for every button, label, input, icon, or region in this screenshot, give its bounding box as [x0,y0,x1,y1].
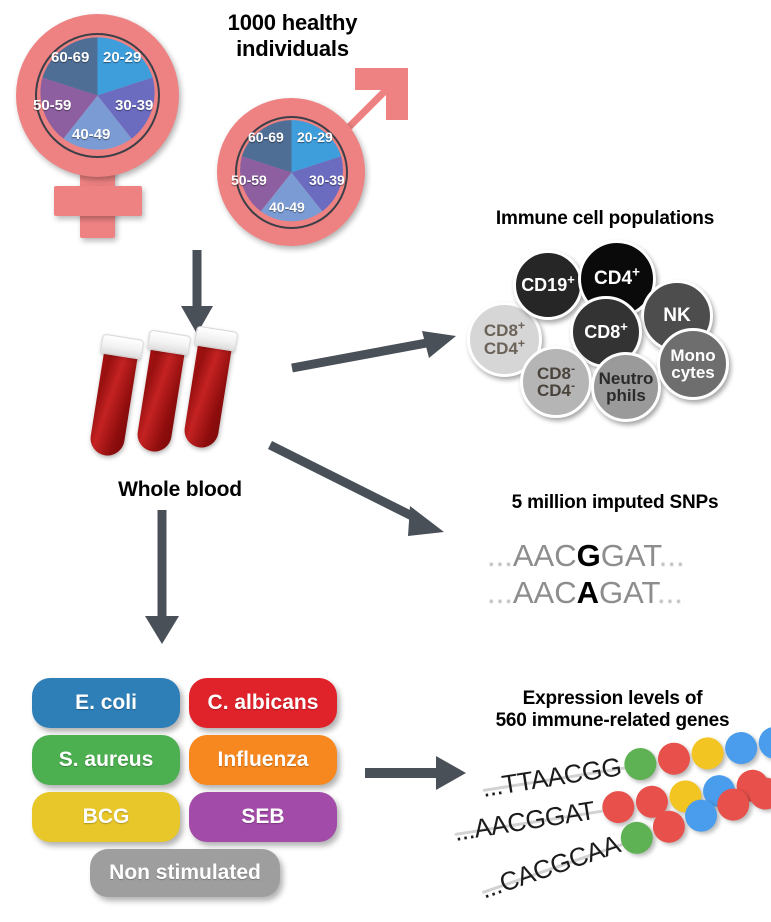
figure-canvas: 20-29 30-39 40-49 50-59 60-69 20-29 30-3… [0,0,771,922]
cohort-title: 1000 healthy individuals [175,10,410,62]
cell-label: CD19+ [521,276,575,294]
immune-cells-title: Immune cell populations [455,208,755,230]
male-pie-label-60-69: 60-69 [248,129,284,145]
male-symbol: 20-29 30-39 40-49 50-59 60-69 [205,60,415,240]
cell-label: CD8+ [584,323,628,341]
snp-title: 5 million imputed SNPs [470,492,760,514]
snp2-variant: A [577,575,599,610]
snp2-right: GAT [599,575,657,610]
stimulation-box-s-aureus[interactable]: S. aureus [32,735,180,785]
strand-1-bead-4 [723,730,760,767]
stimulation-box-non-stimulated[interactable]: Non stimulated [90,849,280,897]
female-symbol-cross [54,186,142,216]
cell-label: NK [663,306,690,325]
blood-tube-body [135,342,185,454]
female-pie-label-50-59: 50-59 [33,97,71,114]
female-pie-label-20-29: 20-29 [103,49,141,66]
immune-cell-cd8neg-cd4neg: CD8- CD4- [520,346,592,418]
snp2-left: AAC [513,575,577,610]
female-symbol: 20-29 30-39 40-49 50-59 60-69 [10,8,185,238]
blood-tube-body [88,346,138,458]
male-pie-label-20-29: 20-29 [297,129,333,145]
expression-title: Expression levels of 560 immune-related … [460,688,765,733]
snp-sequence-2: ...AACAGAT... [487,575,683,611]
strand-2-bead-1 [600,789,637,826]
stimulation-box-e-coli[interactable]: E. coli [32,678,180,728]
snp2-suffix: ... [657,575,683,610]
male-pie-label-50-59: 50-59 [231,172,267,188]
stimulation-box-bcg[interactable]: BCG [32,792,180,842]
male-pie-label-30-39: 30-39 [309,172,345,188]
stimulation-box-seb[interactable]: SEB [189,792,337,842]
stimulation-box-c-albicans[interactable]: C. albicans [189,678,337,728]
gene-expression-strands: ...TTAACGG ...AACGGAT ...CACGCAA [455,745,771,905]
strand-1-bead-3 [689,735,726,772]
stimulation-box-influenza[interactable]: Influenza [189,735,337,785]
immune-cell-cd19pos: CD19+ [513,250,583,320]
strand-1-bead-5 [756,724,771,761]
whole-blood-tubes [105,340,295,480]
cell-label-line2: CD4- [537,382,575,399]
snp-sequence-1: ...AACGGAT... [487,538,685,574]
cell-label-line1: Mono [670,347,715,364]
expression-title-line2: 560 immune-related genes [460,710,765,732]
strand-1-bead-1 [622,746,659,783]
cell-label-line2: cytes [671,364,714,381]
snp2-prefix: ... [487,575,513,610]
snp1-prefix: ... [487,538,513,573]
snp1-right: GAT [601,538,659,573]
immune-cell-monocytes: Mono cytes [657,328,729,400]
cell-label-line1: CD8- [537,365,575,382]
snp1-suffix: ... [659,538,685,573]
immune-cell-cluster: CD8+ CD4+ CD19+ CD4+ NK CD8+ CD8- CD4- N… [465,240,755,420]
stimulation-panel: E. coli C. albicans S. aureus Influenza … [32,678,342,893]
expression-title-line1: Expression levels of [460,688,765,710]
arrow-blood-to-immune [290,325,460,385]
cell-label-line2: phils [606,387,646,404]
male-pie-label-40-49: 40-49 [269,199,305,215]
female-pie-label-40-49: 40-49 [72,126,110,143]
snp1-variant: G [577,538,601,573]
female-pie-label-60-69: 60-69 [51,49,89,66]
cell-label-line1: Neutro [599,370,654,387]
whole-blood-label: Whole blood [80,478,280,503]
arrow-blood-to-snp [268,440,458,550]
cohort-title-line1: 1000 healthy [175,10,410,36]
cohort-title-line2: individuals [175,36,410,62]
female-pie-label-30-39: 30-39 [115,97,153,114]
strand-1-bead-2 [656,740,693,777]
snp1-left: AAC [513,538,577,573]
cell-label-line2: CD4+ [484,340,525,357]
cell-label: CD4+ [594,269,640,288]
arrow-blood-to-stimulation [140,510,190,650]
blood-tube-body [182,338,232,450]
immune-cell-neutrophils: Neutro phils [591,352,661,422]
